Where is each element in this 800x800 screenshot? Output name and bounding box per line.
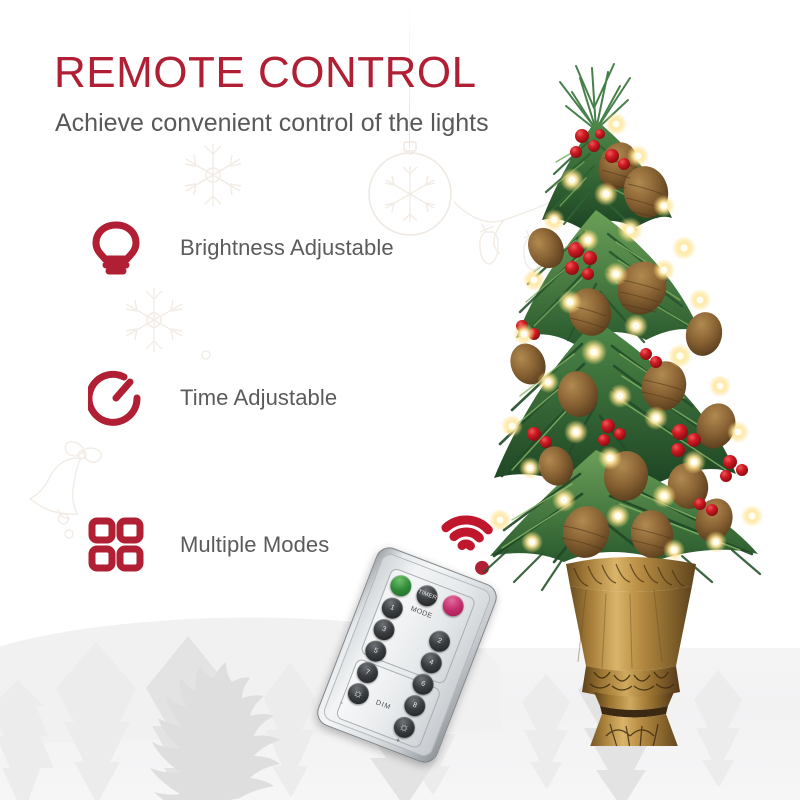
feature-row-brightness: Brightness Adjustable bbox=[84, 216, 394, 280]
timer-icon bbox=[84, 366, 148, 430]
sun-icon: ☼ bbox=[351, 685, 366, 702]
snowflake-dot-watermark bbox=[200, 348, 212, 360]
feature-label: Multiple Modes bbox=[180, 532, 329, 558]
page-subtitle: Achieve convenient control of the lights bbox=[55, 107, 489, 139]
feature-row-time: Time Adjustable bbox=[84, 366, 337, 430]
lightbulb-icon bbox=[84, 216, 148, 280]
urn-planter bbox=[566, 557, 696, 746]
feature-label: Time Adjustable bbox=[180, 385, 337, 411]
christmas-tree-product bbox=[468, 34, 800, 746]
snowflake-watermark bbox=[178, 140, 248, 210]
sun-icon: ☼ bbox=[397, 718, 412, 735]
feature-row-modes: Multiple Modes bbox=[84, 513, 329, 577]
marketing-image-canvas: REMOTE CONTROL Achieve convenient contro… bbox=[0, 0, 800, 800]
grid-four-icon bbox=[84, 513, 148, 577]
snowflake-watermark bbox=[118, 284, 190, 356]
page-title: REMOTE CONTROL bbox=[54, 47, 477, 99]
feature-label: Brightness Adjustable bbox=[180, 235, 394, 261]
dim-plus-label: + bbox=[394, 737, 401, 745]
snowflake-dot-watermark bbox=[63, 527, 75, 539]
